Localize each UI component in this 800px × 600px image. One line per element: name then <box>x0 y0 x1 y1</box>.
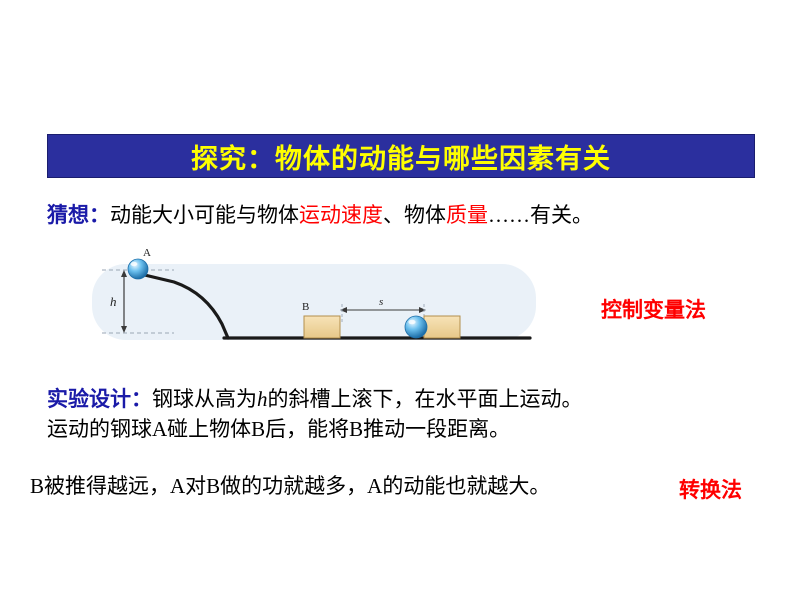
design-line1-part-b: 的斜槽上滚下，在水平面上运动。 <box>268 387 583 411</box>
ball-a-highlight <box>131 262 138 266</box>
label-a: A <box>143 247 151 259</box>
design-label: 实验设计： <box>47 387 152 411</box>
conclusion-text: B被推得越远，A对B做的功就越多，A的动能也就越大。 <box>30 470 680 500</box>
design-line2: 运动的钢球A碰上物体B后，能将B推动一段距离。 <box>47 414 747 444</box>
note-control-variable-method: 控制变量法 <box>601 294 706 324</box>
experiment-diagram: A B s h <box>88 238 540 366</box>
slide-title-bar: 探究：物体的动能与哪些因素有关 <box>47 134 755 178</box>
guess-label: 猜想： <box>47 203 110 227</box>
guess-highlight-mass: 质量 <box>446 203 488 227</box>
page-title: 探究：物体的动能与哪些因素有关 <box>191 137 611 176</box>
steel-ball-a <box>128 259 148 279</box>
guess-highlight-speed: 运动速度 <box>299 203 383 227</box>
design-line1-symbol-h: h <box>257 387 268 411</box>
block-b-start <box>304 316 340 338</box>
guess-text-part3: ……有关。 <box>488 203 593 227</box>
ball-a-bottom-highlight <box>408 320 415 325</box>
guess-line: 猜想：动能大小可能与物体运动速度、物体质量……有关。 <box>47 203 767 228</box>
note-conversion-method: 转换法 <box>679 474 742 504</box>
block-b-end <box>424 316 460 338</box>
label-b: B <box>302 301 309 313</box>
label-s: s <box>379 296 383 308</box>
experiment-design-block: 实验设计：钢球从高为h的斜槽上滚下，在水平面上运动。 运动的钢球A碰上物体B后，… <box>47 384 747 445</box>
design-line1-part-a: 钢球从高为 <box>152 387 257 411</box>
guess-text-part2: 、物体 <box>383 203 446 227</box>
slide-canvas: 探究：物体的动能与哪些因素有关 猜想：动能大小可能与物体运动速度、物体质量……有… <box>0 0 800 600</box>
label-h: h <box>110 294 117 309</box>
guess-text-part1: 动能大小可能与物体 <box>110 203 299 227</box>
steel-ball-a-bottom <box>405 316 427 338</box>
